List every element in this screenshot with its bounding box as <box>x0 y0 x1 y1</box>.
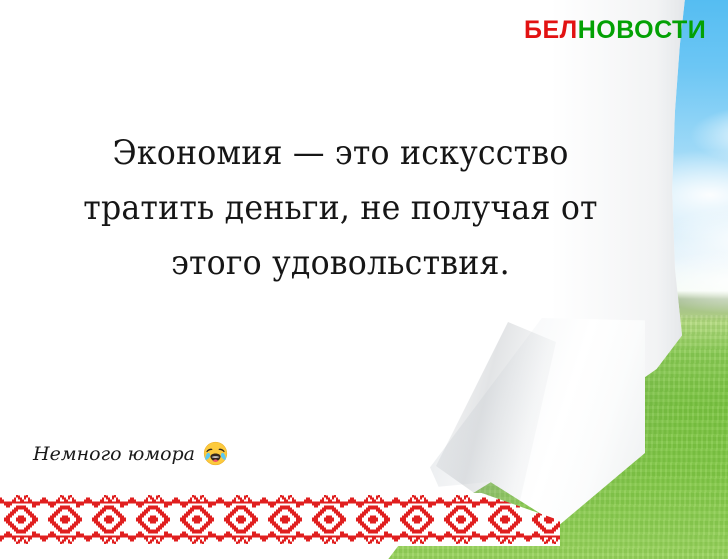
caption-label: Немного юмора <box>33 443 195 465</box>
belarusian-embroidery-pattern <box>0 493 560 546</box>
logo-text-bel: БЕЛ <box>524 16 578 44</box>
quote-line-1: Экономия — это искусство <box>50 126 631 181</box>
embroidery-bottom-edge <box>0 544 560 546</box>
embroidery-top-edge <box>0 493 560 495</box>
face-with-tears-of-joy-emoji <box>203 441 228 466</box>
embroidery-tile-row <box>0 493 560 546</box>
quote-line-2: тратить деньги, не получая от <box>50 181 631 236</box>
image-canvas: БЕЛНОВОСТИ Экономия — это искусство трат… <box>0 0 728 559</box>
site-logo: БЕЛНОВОСТИ <box>524 18 706 43</box>
logo-text-novosti: НОВОСТИ <box>578 16 707 44</box>
quote-line-3: этого удовольствия. <box>50 236 631 291</box>
quote-text: Экономия — это искусство тратить деньги,… <box>50 126 631 291</box>
caption: Немного юмора <box>33 441 228 466</box>
